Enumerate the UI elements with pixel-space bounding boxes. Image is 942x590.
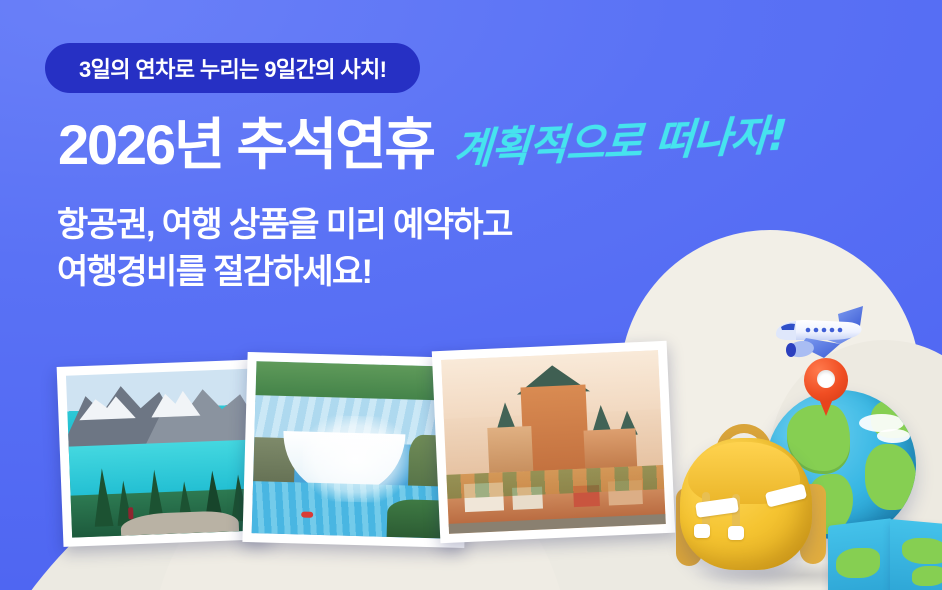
backpack-buckle: [694, 524, 710, 538]
map-landmass: [912, 566, 942, 586]
photo-image-moraine-lake: [66, 368, 262, 537]
mist-cloud: [302, 414, 410, 503]
subtitle-line-1: 항공권, 여행 상품을 미리 예약하고: [57, 208, 512, 242]
cloud-puff: [877, 429, 910, 443]
photo-card-chateau-frontenac: [432, 341, 675, 543]
backpack-icon: [674, 428, 828, 578]
travel-illustration-group: [660, 370, 942, 590]
folded-map-icon: [828, 522, 942, 590]
photo-image-niagara-falls: [252, 361, 461, 539]
map-pin-center: [817, 370, 835, 388]
photo-image-chateau-frontenac: [441, 350, 666, 534]
tour-boat: [301, 511, 313, 517]
castle-wing-left: [488, 426, 533, 473]
headline-main: 2026년 추석연휴: [58, 117, 434, 173]
map-landmass: [902, 538, 942, 564]
landmass: [865, 444, 916, 510]
subtitle-line-2: 여행경비를 절감하세요!: [57, 255, 371, 289]
hiker-figure: [128, 507, 133, 519]
promo-banner: 3일의 연차로 누리는 9일간의 사치! 2026년 추석연휴 계획적으로 떠나…: [0, 0, 942, 590]
headline-row: 2026년 추석연휴 계획적으로 떠나자!: [58, 116, 785, 177]
promo-badge-label: 3일의 연차로 누리는 9일간의 사치!: [79, 52, 386, 84]
airplane-icon: [766, 300, 874, 372]
map-landmass: [836, 548, 880, 578]
backpack-buckle: [728, 526, 744, 540]
promo-badge: 3일의 연차로 누리는 9일간의 사치!: [45, 43, 420, 93]
castle-wing-right: [583, 428, 637, 472]
photo-card-moraine-lake: [57, 359, 272, 547]
